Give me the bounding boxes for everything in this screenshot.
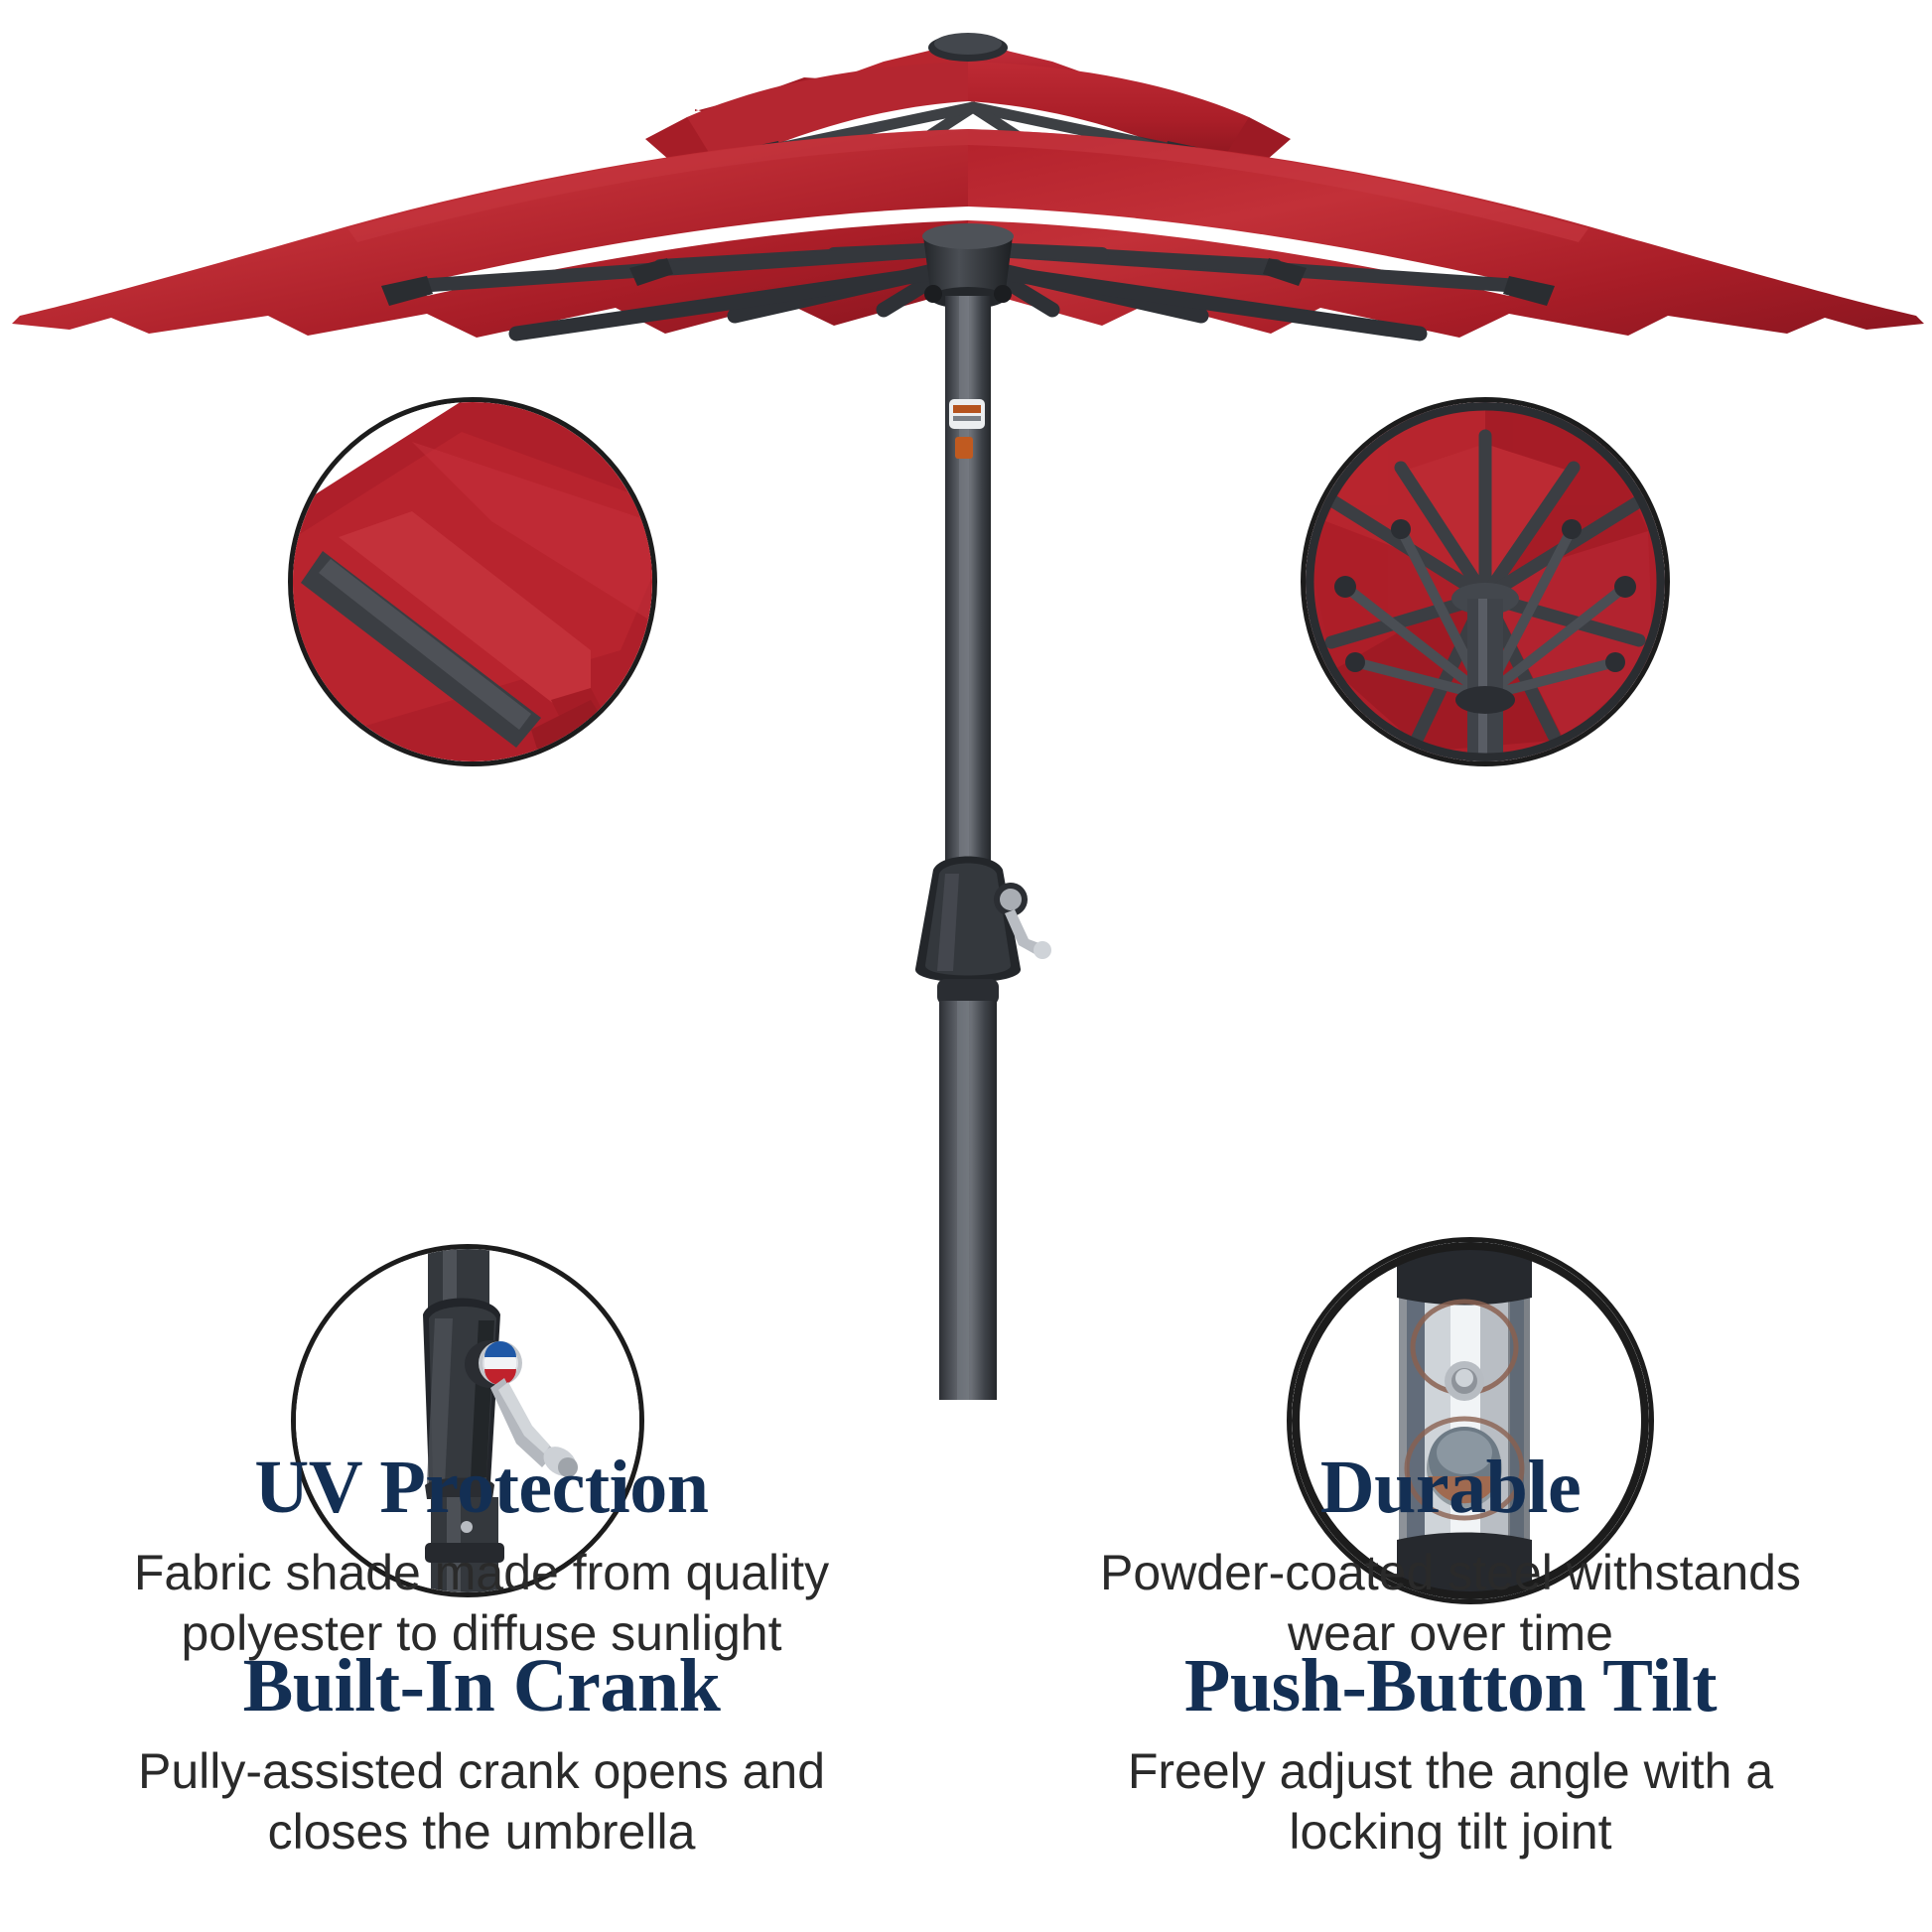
feature-title-push-button-tilt: Push-Button Tilt [989,1648,1912,1724]
callout-durable [1301,397,1670,766]
feature-title-uv-protection: UV Protection [20,1449,943,1525]
feature-block-durable: Durable Powder-coated steel withstands w… [989,1449,1912,1664]
feature-desc-built-in-crank-line2: closes the umbrella [20,1802,943,1863]
canopy-fabric-edge-closeup [293,402,652,761]
feature-desc-durable-line1: Powder-coated steel withstands [989,1543,1912,1603]
feature-block-uv-protection: UV Protection Fabric shade made from qua… [20,1449,943,1664]
umbrella-rib-frame-underside-closeup [1306,402,1665,761]
feature-title-built-in-crank: Built-In Crank [20,1648,943,1724]
umbrella-pole-upper [945,296,991,874]
umbrella-pole-lower [939,1001,997,1400]
feature-block-push-button-tilt: Push-Button Tilt Freely adjust the angle… [989,1648,1912,1863]
feature-title-durable: Durable [989,1449,1912,1525]
crank-housing [915,857,1051,1006]
infographic-canvas: UV Protection Fabric shade made from qua… [0,0,1932,1932]
feature-desc-uv-protection-line1: Fabric shade made from quality [20,1543,943,1603]
feature-block-built-in-crank: Built-In Crank Pully-assisted crank open… [20,1648,943,1863]
feature-desc-built-in-crank-line1: Pully-assisted crank opens and [20,1741,943,1802]
callout-uv-protection [288,397,657,766]
feature-desc-push-button-tilt-line2: locking tilt joint [989,1802,1912,1863]
feature-desc-push-button-tilt-line1: Freely adjust the angle with a [989,1741,1912,1802]
